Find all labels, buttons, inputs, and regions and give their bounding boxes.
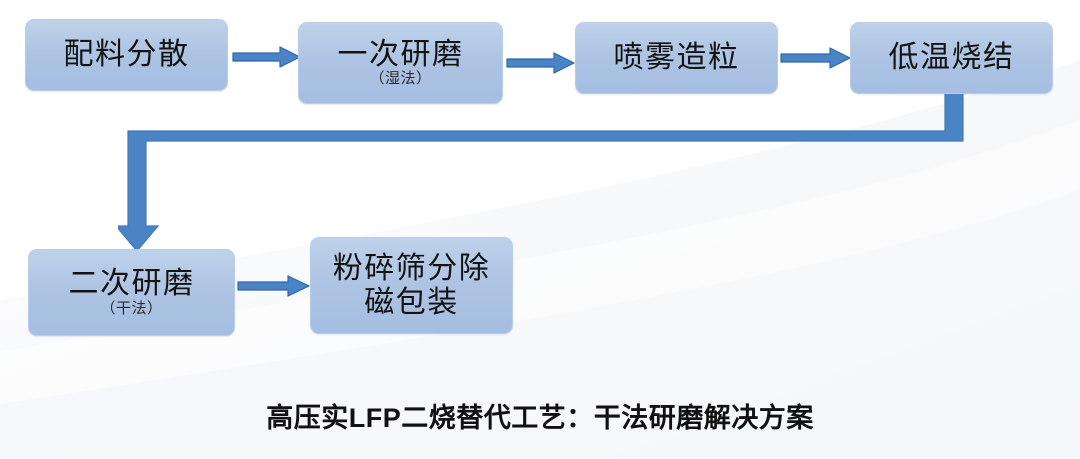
arrow-erci-to-fensui — [237, 273, 311, 299]
arrow-yici-to-penwu — [506, 50, 576, 76]
process-node-fensui-shaifen-chuci-baozhuang[interactable]: 粉碎筛分除 磁包装 — [310, 237, 513, 334]
process-node-label: 配料分散 — [64, 39, 190, 71]
process-node-diwen-shaojie[interactable]: 低温烧结 — [850, 22, 1053, 94]
process-node-yici-yanmo[interactable]: 一次研磨 （湿法） — [298, 22, 503, 104]
process-node-erci-yanmo[interactable]: 二次研磨 （干法） — [28, 249, 235, 336]
arrow-diwen-to-erci-elbow — [118, 86, 988, 258]
process-node-label-line2: 磁包装 — [364, 286, 459, 320]
process-node-label-line1: 粉碎筛分除 — [333, 252, 491, 286]
process-node-label: 二次研磨 — [69, 268, 195, 300]
process-node-sublabel: （干法） — [100, 301, 162, 317]
diagram-caption: 高压实LFP二烧替代工艺：干法研磨解决方案 — [0, 396, 1080, 435]
process-node-peiliao-fensan[interactable]: 配料分散 — [25, 19, 228, 91]
arrow-penwu-to-diwen — [780, 45, 852, 71]
process-node-penwu-zaoli[interactable]: 喷雾造粒 — [575, 22, 778, 94]
process-node-label: 喷雾造粒 — [614, 42, 740, 74]
process-node-sublabel: （湿法） — [369, 71, 431, 87]
diagram-canvas: 配料分散 一次研磨 （湿法） 喷雾造粒 低温烧结 二次研磨 （干法） 粉碎筛分除… — [0, 0, 1080, 459]
process-node-label: 低温烧结 — [889, 42, 1015, 74]
arrow-peiliao-to-yici — [232, 44, 302, 70]
process-node-label: 一次研磨 — [338, 39, 464, 71]
